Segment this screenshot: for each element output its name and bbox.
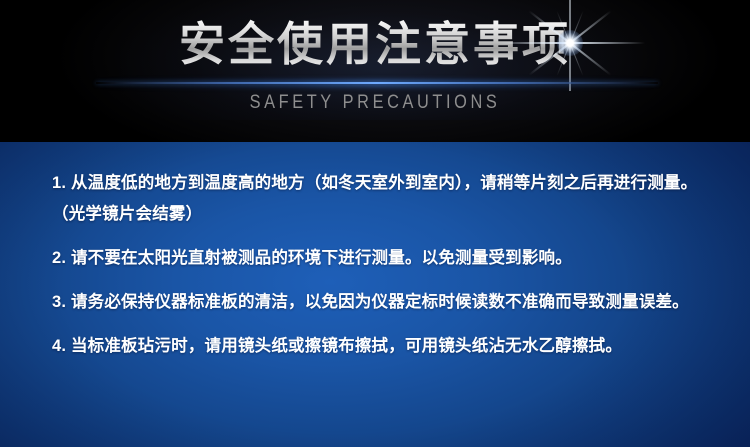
- header-divider: [96, 82, 658, 84]
- banner-header: 安全使用注意事项 SAFETY PRECAUTIONS: [0, 0, 750, 142]
- safety-precautions-banner: 安全使用注意事项 SAFETY PRECAUTIONS 1. 从温度低的地方到温…: [0, 0, 750, 447]
- banner-body: 1. 从温度低的地方到温度高的地方（如冬天室外到室内），请稍等片刻之后再进行测量…: [0, 142, 750, 447]
- list-item: 4. 当标准板玷污时，请用镜头纸或擦镜布擦拭，可用镜头纸沾无水乙醇擦拭。: [52, 331, 698, 362]
- page-title-chinese: 安全使用注意事项: [0, 14, 750, 74]
- precaution-list: 1. 从温度低的地方到温度高的地方（如冬天室外到室内），请稍等片刻之后再进行测量…: [0, 142, 750, 362]
- page-subtitle-english: SAFETY PRECAUTIONS: [53, 92, 698, 114]
- list-item: 2. 请不要在太阳光直射被测品的环境下进行测量。以免测量受到影响。: [52, 243, 698, 274]
- list-item: 1. 从温度低的地方到温度高的地方（如冬天室外到室内），请稍等片刻之后再进行测量…: [52, 168, 698, 230]
- list-item: 3. 请务必保持仪器标准板的清洁，以免因为仪器定标时候读数不准确而导致测量误差。: [52, 287, 698, 318]
